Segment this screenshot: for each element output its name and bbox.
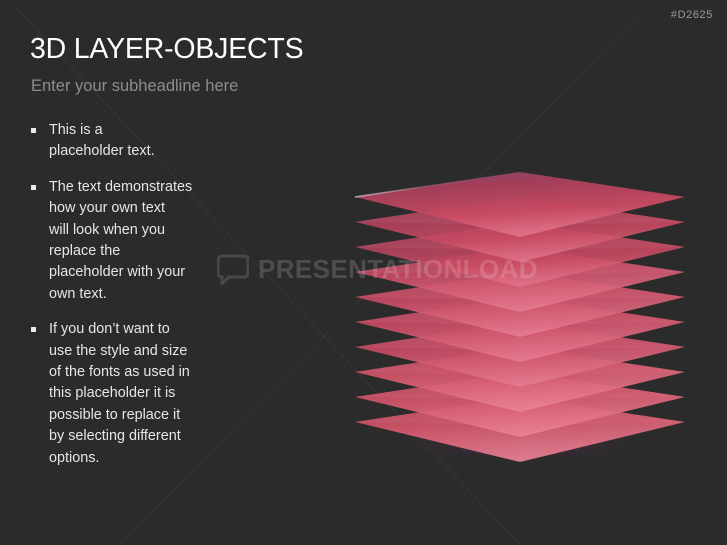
bullet-square-icon	[31, 327, 36, 332]
list-item: This is a placeholder text.	[31, 120, 271, 163]
list-item: If you don’t want to use the style and s…	[31, 319, 271, 469]
slide: #D2625 3D LAYER-OBJECTS Enter your subhe…	[0, 0, 727, 545]
bullet-square-icon	[31, 128, 36, 133]
3d-layer-stack-graphic	[330, 150, 710, 490]
page-title: 3D LAYER-OBJECTS	[30, 33, 303, 66]
list-item: The text demonstrates how your own text …	[31, 177, 271, 305]
bullet-square-icon	[31, 185, 36, 190]
list-item-text: If you don’t want to use the style and s…	[49, 319, 190, 469]
list-item-text: The text demonstrates how your own text …	[49, 177, 192, 305]
page-subtitle: Enter your subheadline here	[31, 77, 238, 96]
list-item-text: This is a placeholder text.	[49, 120, 155, 163]
document-id: #D2625	[671, 9, 713, 21]
bullet-list: This is a placeholder text. The text dem…	[31, 120, 271, 483]
stack-layers	[355, 172, 685, 462]
